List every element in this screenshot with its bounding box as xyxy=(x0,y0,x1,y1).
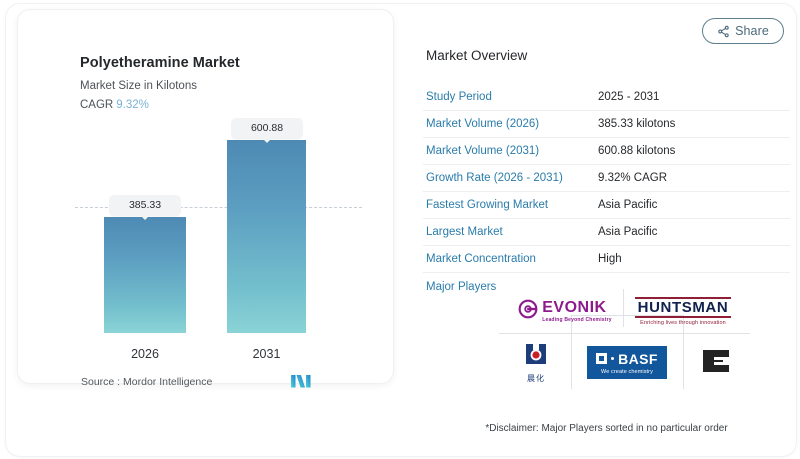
row-value: Asia Pacific xyxy=(598,199,657,211)
huntsman-rule-bottom xyxy=(635,316,731,318)
table-row: Study Period 2025 - 2031 xyxy=(423,84,790,111)
evonik-tagline: Leading Beyond Chemistry xyxy=(542,318,612,323)
market-overview-screenshot: Share Polyetheramine Market Market Size … xyxy=(0,0,800,459)
row-key: Market Concentration xyxy=(423,253,598,265)
disclaimer-text: *Disclaimer: Major Players sorted in no … xyxy=(423,423,790,434)
evonik-logo xyxy=(518,299,538,324)
bar-2026 xyxy=(104,217,186,333)
row-key: Growth Rate (2026 - 2031) xyxy=(423,172,598,184)
major-players-logos: EVONIK Leading Beyond Chemistry HUNTSMAN… xyxy=(499,289,750,390)
x-axis-label-2026: 2026 xyxy=(104,347,186,361)
bar-2031 xyxy=(227,140,306,333)
player-logo-basf[interactable]: BASF We create chemistry xyxy=(571,335,683,389)
table-row: Market Concentration High xyxy=(423,246,790,273)
basf-square-icon xyxy=(596,353,607,364)
bar-value-label-2026: 385.33 xyxy=(109,195,181,216)
evonik-wordmark: EVONIK xyxy=(542,300,612,316)
player-logo-chinese-chemical[interactable]: 晨化 xyxy=(503,337,569,389)
huntsman-tagline: Enriching lives through innovation xyxy=(635,320,731,326)
basf-tagline: We create chemistry xyxy=(596,369,658,375)
huntsman-logo: HUNTSMAN Enriching lives through innovat… xyxy=(635,297,731,326)
player-logo-evonik[interactable]: EVONIK Leading Beyond Chemistry xyxy=(509,289,621,333)
row-key: Largest Market xyxy=(423,226,598,238)
row-key: Fastest Growing Market xyxy=(423,199,598,211)
row-value: Asia Pacific xyxy=(598,226,657,238)
x-axis-label-2031: 2031 xyxy=(227,347,306,361)
market-overview-title: Market Overview xyxy=(426,48,527,63)
chinese-chemical-logo xyxy=(523,353,549,370)
share-nodes-icon xyxy=(717,25,730,38)
row-value: High xyxy=(598,253,622,265)
player-logo-cummins[interactable] xyxy=(685,337,747,389)
row-key: Study Period xyxy=(423,91,598,103)
table-row: Growth Rate (2026 - 2031) 9.32% CAGR xyxy=(423,165,790,192)
row-value: 385.33 kilotons xyxy=(598,118,675,130)
row-value: 2025 - 2031 xyxy=(598,91,659,103)
bar-chart-plot: 385.33 600.88 2026 2031 xyxy=(18,10,393,383)
bar-value-label-2031: 600.88 xyxy=(231,118,303,139)
logo-divider-vertical xyxy=(623,289,624,327)
table-row: Fastest Growing Market Asia Pacific xyxy=(423,192,790,219)
share-button-label: Share xyxy=(735,24,769,38)
logo-divider-horizontal xyxy=(499,333,750,334)
market-overview-table: Study Period 2025 - 2031 Market Volume (… xyxy=(423,84,790,300)
cummins-c-logo xyxy=(701,348,731,379)
table-row: Largest Market Asia Pacific xyxy=(423,219,790,246)
basf-wordmark: BASF xyxy=(618,352,658,366)
row-key: Market Volume (2031) xyxy=(423,145,598,157)
table-row: Market Volume (2031) 600.88 kilotons xyxy=(423,138,790,165)
player-logo-huntsman[interactable]: HUNTSMAN Enriching lives through innovat… xyxy=(627,289,739,333)
chart-card: Polyetheramine Market Market Size in Kil… xyxy=(18,10,393,383)
huntsman-wordmark: HUNTSMAN xyxy=(635,300,731,315)
basf-logo: BASF We create chemistry xyxy=(587,346,667,379)
chart-source: Source : Mordor Intelligence xyxy=(81,376,212,388)
chinese-chemical-characters: 晨化 xyxy=(523,373,549,384)
row-value: 600.88 kilotons xyxy=(598,145,675,157)
row-key: Market Volume (2026) xyxy=(423,118,598,130)
share-button[interactable]: Share xyxy=(702,18,784,44)
row-value: 9.32% CAGR xyxy=(598,172,667,184)
basf-dot-icon xyxy=(611,357,614,360)
table-row: Market Volume (2026) 385.33 kilotons xyxy=(423,111,790,138)
